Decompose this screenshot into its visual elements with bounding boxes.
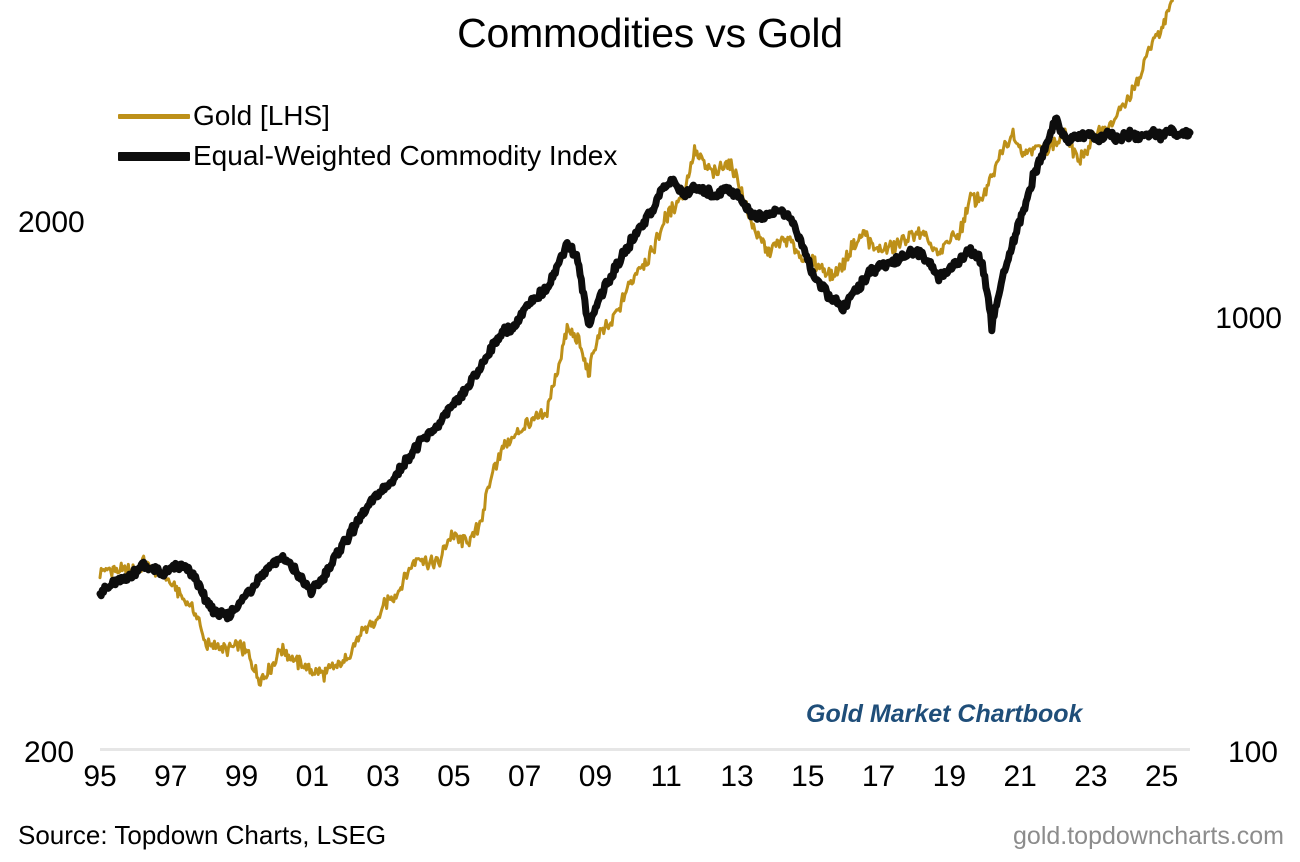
source-note: Source: Topdown Charts, LSEG — [18, 820, 386, 851]
x-tick-97: 97 — [154, 760, 187, 794]
x-tick-07: 07 — [508, 760, 541, 794]
chartbook-annotation: Gold Market Chartbook — [806, 700, 1082, 729]
x-tick-99: 99 — [225, 760, 258, 794]
plot-area — [100, 28, 1190, 750]
x-tick-09: 09 — [579, 760, 612, 794]
left-axis-bottom-label: 200 — [24, 736, 74, 770]
x-tick-01: 01 — [296, 760, 329, 794]
x-tick-11: 11 — [651, 760, 682, 794]
x-tick-21: 21 — [1003, 760, 1036, 794]
x-tick-17: 17 — [862, 760, 895, 794]
x-tick-03: 03 — [366, 760, 399, 794]
left-axis-top-label: 2000 — [18, 206, 85, 240]
x-tick-19: 19 — [933, 760, 966, 794]
x-tick-23: 23 — [1074, 760, 1107, 794]
series-line-gold — [100, 0, 1190, 685]
site-watermark: gold.topdowncharts.com — [1013, 822, 1284, 851]
x-tick-15: 15 — [791, 760, 824, 794]
x-axis-baseline — [100, 748, 1190, 751]
x-tick-05: 05 — [437, 760, 470, 794]
series-line-commodity — [100, 118, 1190, 619]
x-tick-95: 95 — [83, 760, 116, 794]
x-axis-ticks: 95979901030507091113151719212325 — [100, 760, 1190, 804]
chart-page: Commodities vs Gold Gold [LHS] Equal-Wei… — [0, 0, 1300, 862]
right-axis-top-label: 1000 — [1215, 302, 1282, 336]
series-canvas — [100, 28, 1190, 750]
x-tick-25: 25 — [1145, 760, 1178, 794]
x-tick-13: 13 — [720, 760, 753, 794]
right-axis-bottom-label: 100 — [1228, 736, 1278, 770]
